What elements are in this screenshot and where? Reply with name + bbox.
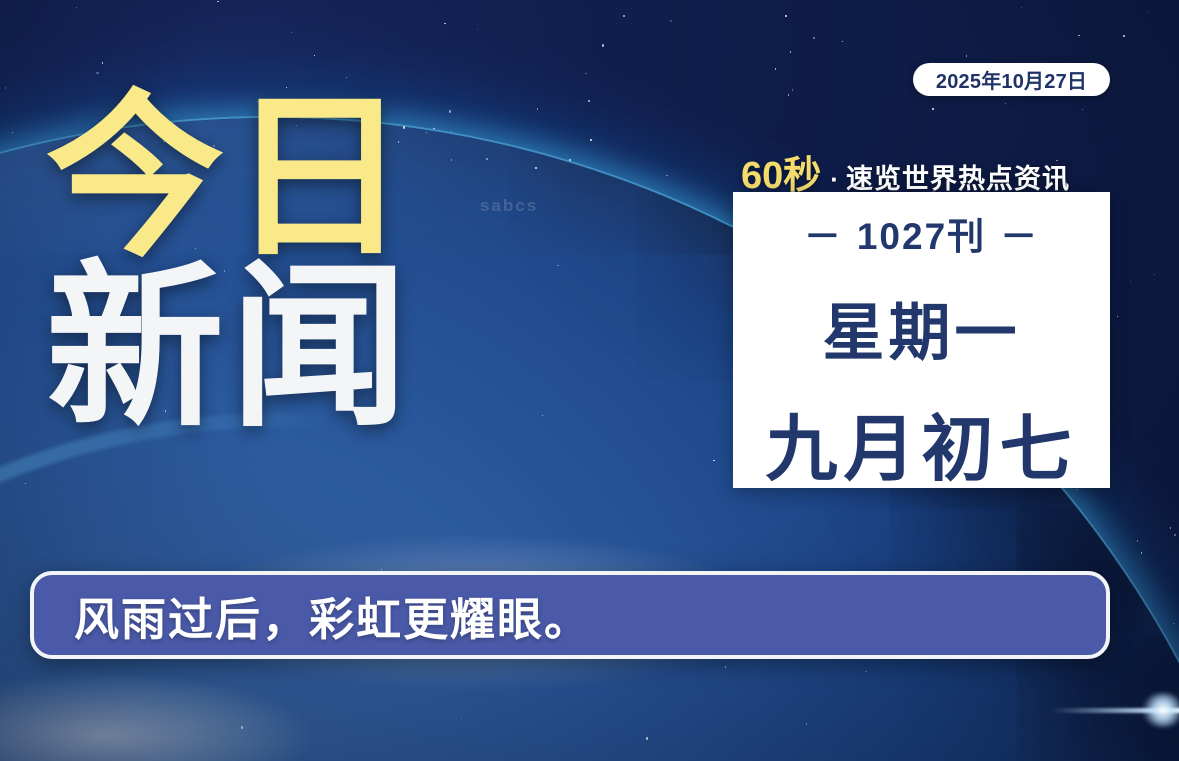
quote-bar: 风雨过后，彩虹更耀眼。 bbox=[30, 571, 1110, 659]
brand-title: 今日 新闻 bbox=[46, 96, 414, 430]
issue-row: － 1027刊 － bbox=[804, 206, 1039, 260]
bright-star-core bbox=[1141, 693, 1179, 727]
brand-title-line-2: 新闻 bbox=[46, 266, 414, 430]
date-badge-label: 2025年10月27日 bbox=[936, 65, 1087, 94]
tagline-separator-dot: · bbox=[830, 164, 839, 195]
weekday-label: 星期一 bbox=[822, 282, 1020, 372]
issue-dash-left: － bbox=[804, 206, 843, 260]
poster-canvas: sabcs 今日 新闻 2025年10月27日 60秒 · 速览世界热点资讯 －… bbox=[0, 0, 1179, 761]
tagline-text: 速览世界热点资讯 bbox=[846, 157, 1070, 196]
watermark: sabcs bbox=[480, 196, 538, 216]
tagline-seconds: 60秒 bbox=[741, 144, 821, 199]
tagline: 60秒 · 速览世界热点资讯 bbox=[741, 144, 1070, 199]
lunar-date-label: 九月初七 bbox=[765, 390, 1077, 495]
issue-dash-right: － bbox=[1000, 206, 1039, 260]
issue-number: 1027刊 bbox=[857, 206, 986, 260]
info-card: － 1027刊 － 星期一 九月初七 bbox=[733, 192, 1110, 488]
date-badge: 2025年10月27日 bbox=[913, 63, 1110, 96]
brand-title-line-1: 今日 bbox=[46, 96, 414, 260]
quote-text: 风雨过后，彩虹更耀眼。 bbox=[74, 583, 591, 648]
